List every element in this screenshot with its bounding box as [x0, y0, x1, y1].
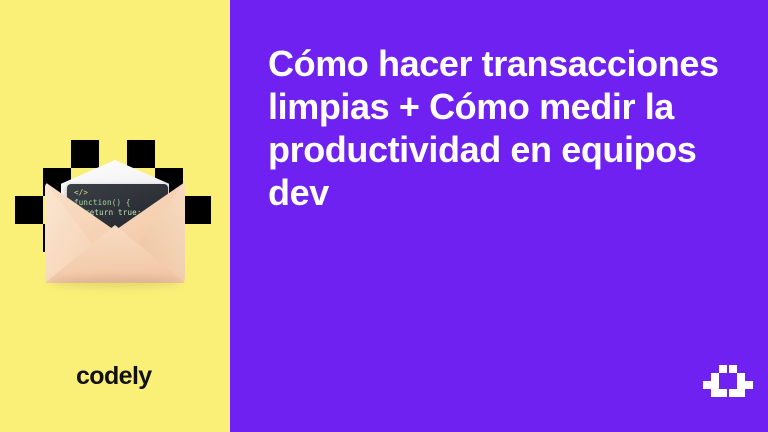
logo-pixel: [745, 381, 753, 389]
logo-pixel: [703, 381, 711, 389]
envelope-drop-shadow: [49, 277, 181, 287]
envelope-body: [45, 182, 185, 283]
brand-wordmark: codely: [76, 364, 152, 389]
logo-pixel: [729, 389, 737, 397]
logo-pixel: [711, 373, 719, 381]
envelope-graphic: </> function() { return true;: [45, 158, 185, 283]
logo-pixel: [737, 373, 745, 381]
checker-block: [15, 196, 43, 224]
logo-pixel: [729, 365, 737, 373]
left-panel: </> function() { return true; codely: [0, 0, 230, 432]
logo-pixel: [711, 381, 719, 389]
page-title: Cómo hacer transacciones limpias + Cómo …: [268, 42, 738, 214]
social-card: </> function() { return true; codely Cóm…: [0, 0, 768, 432]
logo-pixel: [711, 389, 719, 397]
logo-pixel: [719, 389, 727, 397]
logo-pixel: [737, 389, 745, 397]
envelope-illustration: </> function() { return true;: [15, 140, 215, 290]
logo-pixel: [737, 381, 745, 389]
right-panel: Cómo hacer transacciones limpias + Cómo …: [230, 0, 768, 432]
logo-pixel: [719, 365, 727, 373]
pixel-curly-braces-logo: [703, 365, 753, 399]
checker-block: [183, 196, 211, 224]
